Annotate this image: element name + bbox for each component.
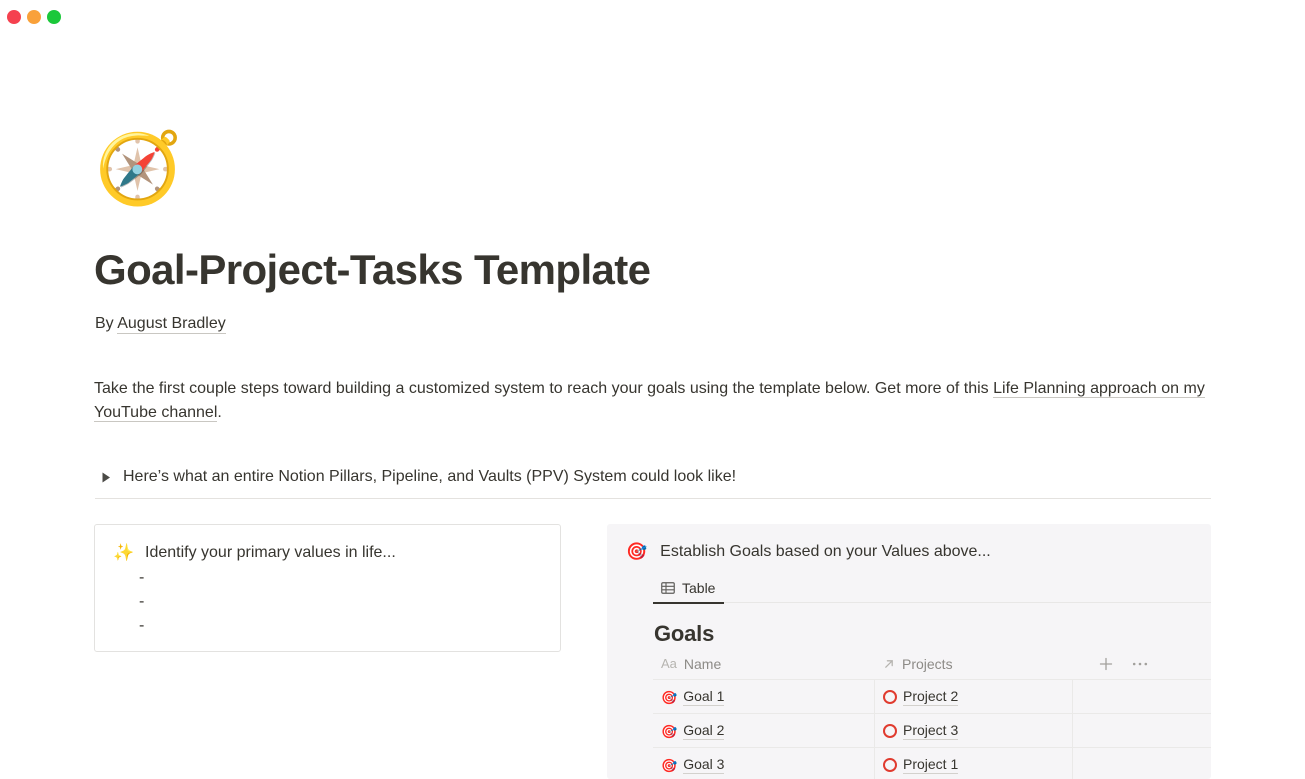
app-window: 🧭 Goal-Project-Tasks Template By August … bbox=[0, 0, 1305, 779]
goals-panel-heading: Establish Goals based on your Values abo… bbox=[660, 541, 991, 563]
section-divider bbox=[95, 498, 1211, 499]
cell-name[interactable]: 🎯 Goal 2 bbox=[653, 714, 875, 748]
dart-emoji: 🎯 bbox=[661, 759, 677, 772]
sparkles-emoji: ✨ bbox=[113, 542, 133, 564]
cell-projects[interactable]: Project 3 bbox=[875, 714, 1073, 748]
database-view-tabs: Table bbox=[653, 574, 1211, 603]
cell-projects[interactable]: Project 1 bbox=[875, 748, 1073, 779]
cell-empty[interactable] bbox=[1073, 748, 1211, 779]
column-header-name-label: Name bbox=[684, 656, 721, 672]
red-circle-icon bbox=[883, 758, 897, 772]
values-dash-list: - - - bbox=[139, 566, 339, 638]
toggle-block[interactable]: Here’s what an entire Notion Pillars, Pi… bbox=[95, 463, 1210, 491]
table-header-actions bbox=[1073, 655, 1211, 673]
goal-name-link[interactable]: Goal 3 bbox=[683, 756, 724, 774]
byline: By August Bradley bbox=[95, 313, 226, 334]
project-link[interactable]: Project 1 bbox=[903, 756, 958, 774]
ellipsis-icon[interactable] bbox=[1131, 655, 1149, 673]
table-row[interactable]: 🎯 Goal 1 Project 2 bbox=[653, 680, 1211, 714]
cell-empty[interactable] bbox=[1073, 680, 1211, 714]
red-circle-icon bbox=[883, 724, 897, 738]
goal-name-link[interactable]: Goal 2 bbox=[683, 722, 724, 740]
dart-emoji: 🎯 bbox=[661, 691, 677, 704]
cell-projects[interactable]: Project 2 bbox=[875, 680, 1073, 714]
goals-table: Aa Name Projects bbox=[653, 648, 1211, 779]
relation-arrow-icon bbox=[883, 658, 895, 670]
cell-name[interactable]: 🎯 Goal 3 bbox=[653, 748, 875, 779]
page-content: 🧭 Goal-Project-Tasks Template By August … bbox=[0, 0, 1305, 779]
column-header-projects-label: Projects bbox=[902, 656, 953, 672]
column-header-projects[interactable]: Projects bbox=[875, 648, 1073, 680]
project-link[interactable]: Project 2 bbox=[903, 688, 958, 706]
table-row[interactable]: 🎯 Goal 2 Project 3 bbox=[653, 714, 1211, 748]
table-icon bbox=[661, 581, 675, 595]
triangle-right-icon[interactable] bbox=[99, 470, 113, 484]
values-card-header: ✨ Identify your primary values in life..… bbox=[113, 542, 396, 564]
compass-emoji[interactable]: 🧭 bbox=[95, 126, 179, 210]
byline-author-link[interactable]: August Bradley bbox=[117, 315, 226, 334]
page-title: Goal-Project-Tasks Template bbox=[94, 246, 650, 294]
database-title: Goals bbox=[654, 621, 714, 647]
byline-prefix: By bbox=[95, 315, 117, 332]
list-item[interactable]: - bbox=[139, 590, 339, 614]
red-circle-icon bbox=[883, 690, 897, 704]
tab-table[interactable]: Table bbox=[653, 574, 724, 603]
cell-empty[interactable] bbox=[1073, 714, 1211, 748]
column-header-name[interactable]: Aa Name bbox=[653, 648, 875, 680]
goals-panel-header: 🎯 Establish Goals based on your Values a… bbox=[626, 541, 991, 563]
title-text-icon: Aa bbox=[661, 656, 677, 671]
values-card-heading: Identify your primary values in life... bbox=[145, 542, 396, 564]
table-row[interactable]: 🎯 Goal 3 Project 1 bbox=[653, 748, 1211, 779]
intro-paragraph: Take the first couple steps toward build… bbox=[94, 377, 1212, 425]
toggle-label: Here’s what an entire Notion Pillars, Pi… bbox=[123, 465, 736, 489]
dart-emoji: 🎯 bbox=[661, 725, 677, 738]
dart-emoji: 🎯 bbox=[626, 541, 647, 563]
table-header-row: Aa Name Projects bbox=[653, 648, 1211, 680]
intro-text-before: Take the first couple steps toward build… bbox=[94, 380, 993, 397]
list-item[interactable]: - bbox=[139, 614, 339, 638]
intro-text-after: . bbox=[217, 404, 221, 421]
tab-table-label: Table bbox=[682, 580, 715, 596]
goal-name-link[interactable]: Goal 1 bbox=[683, 688, 724, 706]
plus-icon[interactable] bbox=[1097, 655, 1115, 673]
cell-name[interactable]: 🎯 Goal 1 bbox=[653, 680, 875, 714]
project-link[interactable]: Project 3 bbox=[903, 722, 958, 740]
goals-panel: 🎯 Establish Goals based on your Values a… bbox=[607, 524, 1211, 779]
list-item[interactable]: - bbox=[139, 566, 339, 590]
